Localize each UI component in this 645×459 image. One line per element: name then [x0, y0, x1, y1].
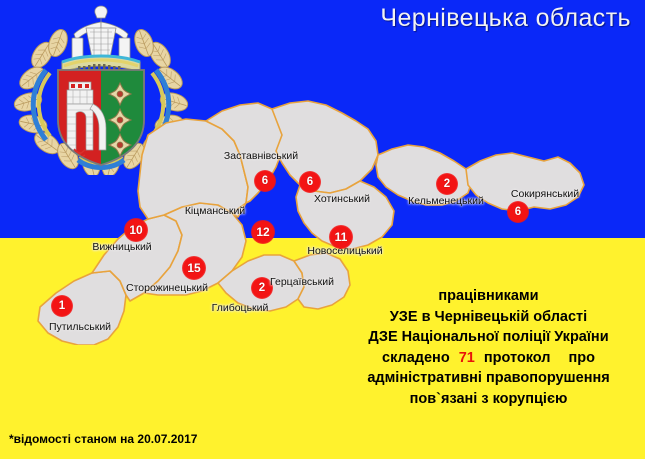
district-count-marker-khotynskyi: 6: [299, 171, 321, 193]
page-title: Чернівецька область: [380, 4, 631, 33]
statement-line-1: працівниками: [336, 286, 641, 307]
district-count-marker-hlybotskyi: 2: [251, 277, 273, 299]
district-count-marker-kelmenetskyi: 2: [436, 173, 458, 195]
statement-line-3: ДЗЕ Національної поліції України: [336, 327, 641, 348]
statement-line-4: складено71протоколпро: [336, 348, 641, 369]
district-count-marker-kitsmanskyi: 12: [251, 220, 275, 244]
district-count-marker-vyzhnytskyi: 10: [124, 218, 148, 242]
district-count-marker-putylskyi: 1: [51, 295, 73, 317]
statement-block: працівниками УЗЕ в Чернівецькій області …: [336, 286, 641, 409]
district-count-marker-storozhynetskyi: 15: [182, 256, 206, 280]
statement-line-4-tail: про: [568, 350, 594, 366]
district-count-marker-sokyrianskyi: 6: [507, 201, 529, 223]
infographic-root: Путильський1Вижницький10Сторожинецький15…: [0, 0, 645, 459]
district-count-marker-zastavnivskyi: 6: [254, 170, 276, 192]
statement-line-4-post: протокол: [484, 350, 551, 366]
statement-line-6: пов`язані з корупцією: [336, 389, 641, 410]
statement-line-2: УЗЕ в Чернівецькій області: [336, 307, 641, 328]
protocol-count: 71: [459, 350, 475, 366]
statement-line-5: адміністративні правопорушення: [336, 368, 641, 389]
district-count-marker-novoselytskyi: 11: [329, 225, 353, 249]
data-as-of-note: *відомості станом на 20.07.2017: [9, 432, 197, 446]
statement-line-4-pre: складено: [382, 350, 450, 366]
